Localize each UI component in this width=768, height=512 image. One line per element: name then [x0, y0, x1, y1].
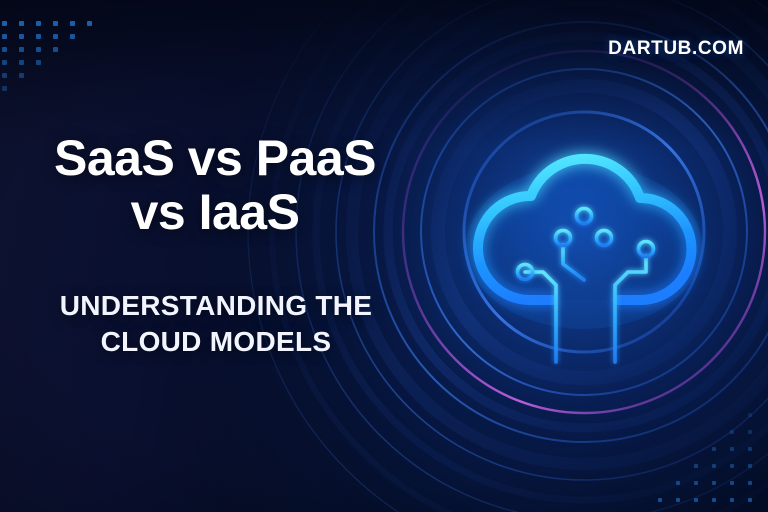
decorative-dot	[694, 464, 698, 468]
dot-grid-top-left	[0, 0, 200, 140]
decorative-dot	[53, 34, 58, 39]
decorative-dot	[748, 447, 752, 451]
decorative-dot	[730, 430, 734, 434]
dot-grid-bottom-right	[588, 372, 768, 512]
decorative-dot	[730, 447, 734, 451]
decorative-dot	[748, 413, 752, 417]
decorative-dot	[2, 60, 7, 65]
decorative-dot	[19, 73, 24, 78]
decorative-dot	[19, 60, 24, 65]
decorative-dot	[36, 34, 41, 39]
decorative-dot	[730, 498, 734, 502]
page-subtitle-line-1: UNDERSTANDING THE	[0, 288, 432, 324]
decorative-dot	[748, 430, 752, 434]
brand-logo-text: DARTUB.COM	[608, 38, 744, 60]
decorative-dot	[2, 47, 7, 52]
decorative-dot	[2, 73, 7, 78]
decorative-dot	[70, 34, 75, 39]
page-subtitle: UNDERSTANDING THE CLOUD MODELS	[0, 288, 432, 360]
decorative-dot	[36, 47, 41, 52]
decorative-dot	[694, 498, 698, 502]
decorative-dot	[19, 34, 24, 39]
decorative-dot	[748, 498, 752, 502]
decorative-dot	[53, 47, 58, 52]
decorative-dot	[694, 481, 698, 485]
decorative-dot	[36, 60, 41, 65]
decorative-dot	[748, 464, 752, 468]
page-subtitle-line-2: CLOUD MODELS	[0, 324, 432, 360]
decorative-dot	[2, 34, 7, 39]
decorative-dot	[676, 498, 680, 502]
decorative-dot	[70, 21, 75, 26]
decorative-dot	[730, 481, 734, 485]
decorative-dot	[658, 498, 662, 502]
decorative-dot	[87, 21, 92, 26]
page-title-line-2: vs IaaS	[0, 185, 430, 239]
decorative-dot	[19, 21, 24, 26]
page-title-line-1: SaaS vs PaaS	[0, 131, 430, 185]
poster-canvas: DARTUB.COM SaaS vs PaaS vs IaaS UNDERSTA…	[0, 0, 768, 512]
decorative-dot	[712, 481, 716, 485]
decorative-dot	[748, 481, 752, 485]
decorative-dot	[19, 47, 24, 52]
decorative-dot	[676, 481, 680, 485]
decorative-dot	[730, 464, 734, 468]
decorative-dot	[2, 21, 7, 26]
decorative-dot	[712, 498, 716, 502]
decorative-dot	[712, 447, 716, 451]
decorative-dot	[2, 86, 7, 91]
decorative-dot	[36, 21, 41, 26]
decorative-dot	[53, 21, 58, 26]
decorative-dot	[712, 464, 716, 468]
page-title: SaaS vs PaaS vs IaaS	[0, 131, 430, 239]
